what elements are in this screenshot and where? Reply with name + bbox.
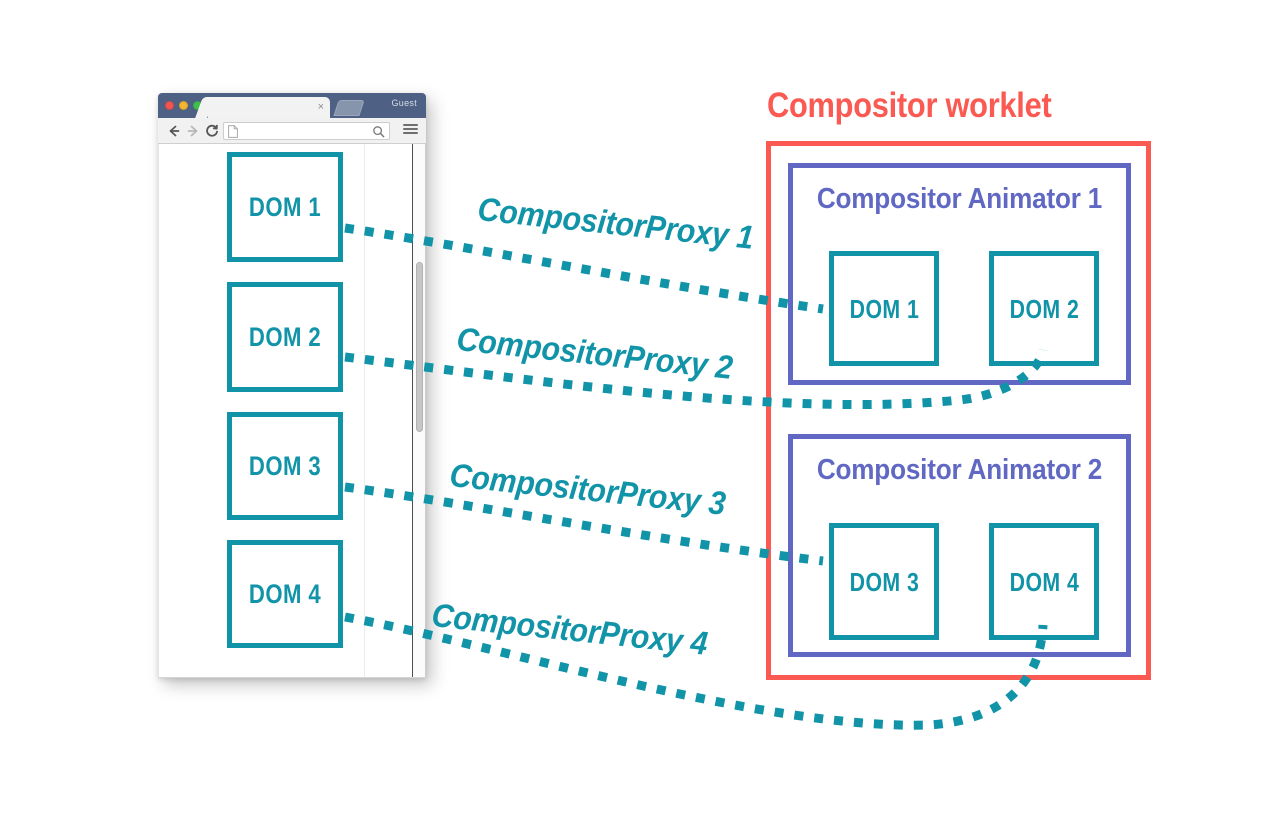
profile-guest-label[interactable]: Guest: [391, 98, 417, 108]
vertical-scrollbar[interactable]: [412, 144, 425, 677]
page-dom-box-4-label: DOM 4: [249, 581, 321, 608]
animator-2-dom-box-4[interactable]: DOM 4: [989, 523, 1099, 640]
compositor-proxy-4-label: CompositorProxy 4: [430, 598, 709, 660]
animator-1-dom-box-2-label: DOM 2: [1009, 296, 1079, 322]
page-dom-box-1-label: DOM 1: [249, 194, 321, 221]
back-arrow-icon[interactable]: [166, 123, 182, 139]
page-dom-box-3[interactable]: DOM 3: [227, 412, 343, 520]
scrollbar-thumb[interactable]: [416, 262, 423, 432]
page-dom-box-4[interactable]: DOM 4: [227, 540, 343, 648]
browser-titlebar: × Guest: [158, 93, 426, 118]
animator-2-dom-box-3[interactable]: DOM 3: [829, 523, 939, 640]
new-tab-button[interactable]: [333, 100, 364, 116]
compositor-proxy-1-label: CompositorProxy 1: [476, 192, 755, 254]
document-icon: [228, 125, 238, 138]
browser-viewport: DOM 1 DOM 2 DOM 3 DOM 4: [158, 144, 426, 678]
traffic-light-minimize-icon[interactable]: [179, 101, 188, 110]
animator-2-dom-box-3-label: DOM 3: [849, 569, 919, 595]
page-dom-box-3-label: DOM 3: [249, 453, 321, 480]
animator-1-dom-box-2[interactable]: DOM 2: [989, 251, 1099, 366]
page-dom-box-2-label: DOM 2: [249, 324, 321, 351]
compositor-worklet-title: Compositor worklet: [767, 88, 1051, 123]
forward-arrow-icon[interactable]: [185, 123, 201, 139]
animator-2-dom-box-4-label: DOM 4: [1009, 569, 1079, 595]
browser-tab-active[interactable]: ×: [208, 97, 330, 118]
reload-icon[interactable]: [204, 123, 220, 139]
address-bar[interactable]: [223, 122, 390, 140]
hamburger-menu-icon[interactable]: [403, 124, 418, 137]
compositor-proxy-3-label: CompositorProxy 3: [448, 458, 727, 520]
browser-toolbar: [158, 118, 426, 144]
compositor-animator-2-box: Compositor Animator 2 DOM 3 DOM 4: [788, 434, 1131, 657]
traffic-light-close-icon[interactable]: [165, 101, 174, 110]
compositor-animator-1-box: Compositor Animator 1 DOM 1 DOM 2: [788, 163, 1131, 385]
diagram-canvas: × Guest: [0, 0, 1280, 815]
search-icon[interactable]: [372, 125, 385, 138]
browser-window: × Guest: [158, 93, 426, 678]
page-dom-box-1[interactable]: DOM 1: [227, 152, 343, 262]
tab-close-icon[interactable]: ×: [318, 100, 324, 114]
animator-1-dom-box-1[interactable]: DOM 1: [829, 251, 939, 366]
compositor-animator-1-title: Compositor Animator 1: [793, 185, 1126, 214]
page-gutter-divider: [364, 144, 365, 677]
compositor-proxy-2-label: CompositorProxy 2: [455, 322, 734, 384]
animator-1-dom-box-1-label: DOM 1: [849, 296, 919, 322]
compositor-animator-2-title: Compositor Animator 2: [793, 456, 1126, 485]
page-dom-box-2[interactable]: DOM 2: [227, 282, 343, 392]
